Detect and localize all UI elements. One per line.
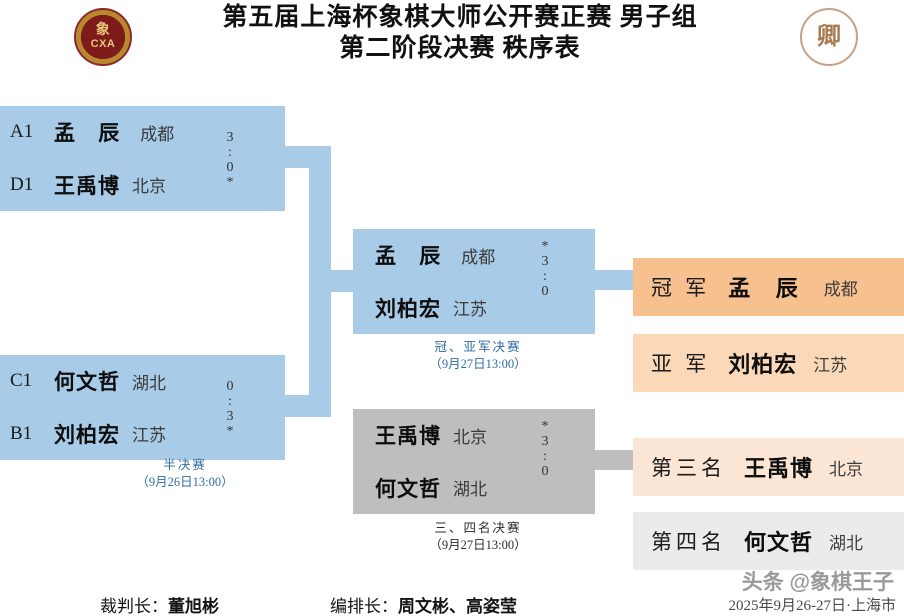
third-place-caption-title: 三、四名决赛 <box>383 520 573 537</box>
score-separator: : <box>537 269 553 284</box>
result-rank-label: 第三名 <box>651 452 726 482</box>
score-marker: * <box>222 175 238 190</box>
table-row: A1 孟 辰 成都 <box>0 106 285 159</box>
arranger-name: 周文彬、高姿莹 <box>398 597 517 616</box>
referee-label: 裁判长： <box>100 597 168 616</box>
result-player-name: 刘柏宏 <box>728 347 797 379</box>
score-marker: * <box>222 424 238 439</box>
event-logo-icon: 卿 <box>800 8 858 66</box>
player-region: 湖北 <box>453 475 487 500</box>
result-rank-label: 冠 军 <box>651 272 710 302</box>
result-player-region: 湖北 <box>829 529 863 554</box>
result-player-name: 王禹博 <box>744 451 813 483</box>
semifinal-caption-time: （9月26日13:00） <box>85 474 285 491</box>
score-digit: 0 <box>537 464 553 479</box>
final-caption: 冠、亚军决赛 （9月27日13:00） <box>383 339 573 373</box>
player-region: 成都 <box>140 120 174 145</box>
player-name: 王禹博 <box>54 170 120 200</box>
seed-label: A1 <box>10 121 54 143</box>
score-digit: 0 <box>537 284 553 299</box>
result-runner-up[interactable]: 亚 军 刘柏宏 江苏 <box>633 334 904 392</box>
player-name: 刘柏宏 <box>54 419 120 449</box>
third-place-caption: 三、四名决赛 （9月27日13:00） <box>383 520 573 554</box>
player-name: 何文哲 <box>375 473 441 503</box>
seed-label: D1 <box>10 174 54 196</box>
player-region: 湖北 <box>132 369 166 394</box>
player-region: 江苏 <box>132 421 166 446</box>
score-digit: 3 <box>537 254 553 269</box>
result-rank-label: 第四名 <box>651 526 726 556</box>
player-region: 北京 <box>453 423 487 448</box>
score-separator: : <box>537 449 553 464</box>
connector-third-to-result <box>595 450 635 470</box>
title-line-1: 第五届上海杯象棋大师公开赛正赛 男子组 <box>222 4 697 31</box>
cxa-logo-text: CXA <box>91 38 116 50</box>
table-row: 刘柏宏 江苏 <box>353 282 595 335</box>
third-place-match[interactable]: 王禹博 北京 何文哲 湖北 <box>353 409 595 514</box>
bracket-page: 象 CXA 第五届上海杯象棋大师公开赛正赛 男子组 第二阶段决赛 秩序表 卿 A… <box>0 0 904 616</box>
arranger-info: 编排长：周文彬、高姿莹 <box>330 592 517 616</box>
score-digit: 3 <box>537 434 553 449</box>
final-caption-title: 冠、亚军决赛 <box>383 339 573 356</box>
match-score: 3 : 0 * <box>222 130 238 190</box>
page-title: 第五届上海杯象棋大师公开赛正赛 男子组 第二阶段决赛 秩序表 <box>180 2 740 65</box>
result-rank-label: 亚 军 <box>651 348 710 378</box>
player-name: 孟 辰 <box>54 117 128 147</box>
player-region: 北京 <box>132 172 166 197</box>
match-score: 0 : 3 * <box>222 379 238 439</box>
table-row: 孟 辰 成都 <box>353 229 595 282</box>
score-marker: * <box>537 239 553 254</box>
cxa-logo-icon: 象 CXA <box>74 8 132 66</box>
result-fourth-place[interactable]: 第四名 何文哲 湖北 <box>633 512 904 570</box>
result-champion[interactable]: 冠 军 孟 辰 成都 <box>633 258 904 316</box>
score-separator: : <box>222 145 238 160</box>
cxa-logo-glyph: 象 <box>91 24 116 39</box>
score-digit: 0 <box>222 160 238 175</box>
connector-to-final <box>309 270 354 292</box>
title-line-2: 第二阶段决赛 秩序表 <box>180 33 740 64</box>
player-name: 刘柏宏 <box>375 293 441 323</box>
semifinal-caption-title: 半决赛 <box>85 457 285 474</box>
table-row: B1 刘柏宏 江苏 <box>0 408 285 461</box>
semifinal-caption: 半决赛 （9月26日13:00） <box>85 457 285 491</box>
result-player-region: 北京 <box>829 455 863 480</box>
final-caption-time: （9月27日13:00） <box>383 356 573 373</box>
table-row: 何文哲 湖北 <box>353 462 595 515</box>
watermark: 头条 @象棋王子 <box>742 566 894 596</box>
seed-label: B1 <box>10 423 54 445</box>
third-place-caption-time: （9月27日13:00） <box>383 537 573 554</box>
result-third-place[interactable]: 第三名 王禹博 北京 <box>633 438 904 496</box>
player-name: 何文哲 <box>54 366 120 396</box>
semifinal-match-top[interactable]: A1 孟 辰 成都 D1 王禹博 北京 <box>0 106 285 211</box>
venue-date: 2025年9月26-27日·上海市 <box>729 594 897 615</box>
player-name: 孟 辰 <box>375 240 449 270</box>
seed-label: C1 <box>10 370 54 392</box>
event-logo-glyph: 卿 <box>817 25 841 49</box>
result-player-region: 江苏 <box>813 351 847 376</box>
result-player-region: 成都 <box>824 275 858 300</box>
table-row: D1 王禹博 北京 <box>0 159 285 212</box>
referee-name: 董旭彬 <box>168 597 219 616</box>
player-name: 王禹博 <box>375 420 441 450</box>
score-digit: 3 <box>222 130 238 145</box>
arranger-label: 编排长： <box>330 597 398 616</box>
score-digit: 0 <box>222 379 238 394</box>
referee-info: 裁判长：董旭彬 <box>100 592 219 616</box>
table-row: 王禹博 北京 <box>353 409 595 462</box>
connector-final-to-champion <box>595 270 635 290</box>
semifinal-match-bottom[interactable]: C1 何文哲 湖北 B1 刘柏宏 江苏 <box>0 355 285 460</box>
result-player-name: 孟 辰 <box>728 271 808 303</box>
player-region: 成都 <box>461 243 495 268</box>
match-score: * 3 : 0 <box>537 239 553 299</box>
final-match[interactable]: 孟 辰 成都 刘柏宏 江苏 <box>353 229 595 334</box>
score-separator: : <box>222 394 238 409</box>
result-player-name: 何文哲 <box>744 525 813 557</box>
table-row: C1 何文哲 湖北 <box>0 355 285 408</box>
match-score: * 3 : 0 <box>537 419 553 479</box>
score-digit: 3 <box>222 409 238 424</box>
score-marker: * <box>537 419 553 434</box>
player-region: 江苏 <box>453 295 487 320</box>
